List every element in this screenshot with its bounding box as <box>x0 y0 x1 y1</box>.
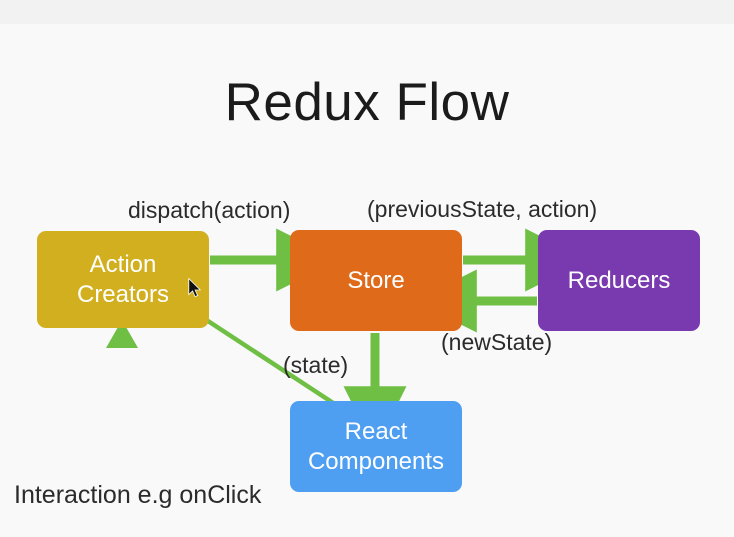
node-react-components-line1: React <box>345 418 408 445</box>
node-store[interactable]: Store <box>290 230 462 331</box>
edge-label-dispatch: dispatch(action) <box>128 197 290 224</box>
edge-label-previous-state: (previousState, action) <box>367 196 597 223</box>
node-action-creators[interactable]: Action Creators <box>37 231 209 328</box>
redux-flow-diagram: Redux Flow dispatch(action) (previousSta… <box>0 0 734 537</box>
node-action-creators-label: Action Creators <box>77 250 169 309</box>
page-title: Redux Flow <box>0 72 734 133</box>
node-reducers-label: Reducers <box>568 266 671 295</box>
edge-label-interaction: Interaction e.g onClick <box>14 481 261 510</box>
node-store-label: Store <box>347 266 404 295</box>
node-react-components-label: React Components <box>308 417 444 476</box>
node-react-components-line2: Components <box>308 448 444 475</box>
node-action-creators-line2: Creators <box>77 281 169 308</box>
mouse-pointer-icon <box>188 278 202 298</box>
edge-label-state: (state) <box>283 352 348 379</box>
node-action-creators-line1: Action <box>90 251 157 278</box>
node-react-components[interactable]: React Components <box>290 401 462 492</box>
node-reducers[interactable]: Reducers <box>538 230 700 331</box>
edge-label-new-state: (newState) <box>441 329 552 356</box>
